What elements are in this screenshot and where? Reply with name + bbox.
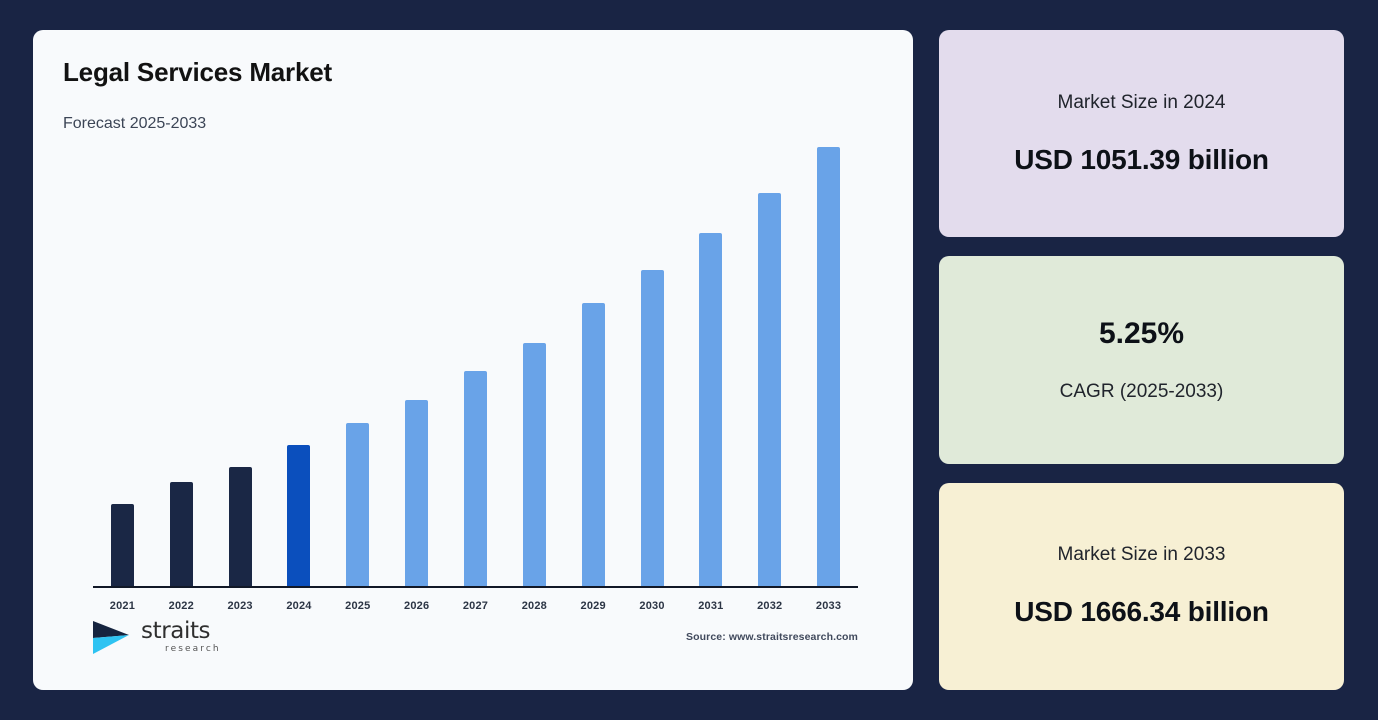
kpi-card-market-size-2024: Market Size in 2024USD 1051.39 billion (939, 30, 1344, 237)
bar-slot-2033[interactable] (799, 147, 858, 586)
bar-2031[interactable] (699, 233, 722, 586)
kpi-label-market-size-2033: Market Size in 2033 (1058, 544, 1226, 566)
bar-slot-2027[interactable] (446, 147, 505, 586)
kpi-label-market-size-2024: Market Size in 2024 (1058, 92, 1226, 114)
bar-2024[interactable] (287, 445, 310, 586)
kpi-label-cagr: CAGR (2025-2033) (1060, 381, 1224, 403)
bar-2029[interactable] (582, 303, 605, 587)
x-tick-2028: 2028 (505, 600, 564, 612)
kpi-card-market-size-2033: Market Size in 2033USD 1666.34 billion (939, 483, 1344, 690)
bar-slot-2025[interactable] (328, 147, 387, 586)
x-tick-2022: 2022 (152, 600, 211, 612)
plot-area: 2021202220232024202520262027202820292030… (63, 147, 883, 690)
bar-2028[interactable] (523, 343, 546, 586)
bar-slot-2031[interactable] (681, 147, 740, 586)
bar-slot-2028[interactable] (505, 147, 564, 586)
source-attribution: Source: www.straitsresearch.com (686, 631, 858, 643)
bar-2021[interactable] (111, 504, 134, 586)
bar-slot-2021[interactable] (93, 147, 152, 586)
x-tick-2026: 2026 (387, 600, 446, 612)
bar-slot-2026[interactable] (387, 147, 446, 586)
bar-2022[interactable] (170, 482, 193, 586)
kpi-panel: Market Size in 2024USD 1051.39 billion5.… (939, 30, 1344, 690)
bar-slot-2029[interactable] (564, 147, 623, 586)
x-axis-ticks: 2021202220232024202520262027202820292030… (93, 600, 858, 612)
bar-2032[interactable] (758, 193, 781, 586)
page-title: Legal Services Market (63, 58, 883, 88)
bar-2033[interactable] (817, 147, 840, 586)
x-tick-2027: 2027 (446, 600, 505, 612)
logo-arrow-icon (91, 617, 133, 657)
x-tick-2023: 2023 (211, 600, 270, 612)
bar-2023[interactable] (229, 467, 252, 586)
kpi-value-cagr: 5.25% (1099, 317, 1184, 351)
x-tick-2025: 2025 (328, 600, 387, 612)
chart-card: Legal Services Market Forecast 2025-2033… (33, 30, 913, 690)
x-tick-2021: 2021 (93, 600, 152, 612)
bar-slot-2032[interactable] (740, 147, 799, 586)
bar-2026[interactable] (405, 400, 428, 586)
straits-research-logo: straits research (91, 617, 221, 657)
infographic-root: Legal Services Market Forecast 2025-2033… (0, 0, 1378, 720)
x-tick-2030: 2030 (623, 600, 682, 612)
bar-2030[interactable] (641, 270, 664, 586)
bar-slot-2030[interactable] (623, 147, 682, 586)
kpi-value-market-size-2024: USD 1051.39 billion (1014, 144, 1269, 176)
x-tick-2032: 2032 (740, 600, 799, 612)
bar-2025[interactable] (346, 423, 369, 587)
x-tick-2031: 2031 (681, 600, 740, 612)
kpi-card-cagr: 5.25%CAGR (2025-2033) (939, 256, 1344, 463)
bar-series (93, 147, 858, 588)
bar-slot-2023[interactable] (211, 147, 270, 586)
chart-subtitle: Forecast 2025-2033 (63, 115, 883, 133)
x-tick-2024: 2024 (270, 600, 329, 612)
logo-name: straits (141, 620, 221, 643)
bar-slot-2024[interactable] (270, 147, 329, 586)
kpi-value-market-size-2033: USD 1666.34 billion (1014, 596, 1269, 628)
bar-2027[interactable] (464, 371, 487, 586)
x-tick-2029: 2029 (564, 600, 623, 612)
bar-chart (93, 147, 858, 588)
logo-subtitle: research (165, 645, 221, 654)
logo-wordmark: straits research (141, 620, 221, 654)
x-tick-2033: 2033 (799, 600, 858, 612)
bar-slot-2022[interactable] (152, 147, 211, 586)
chart-footer: straits research Source: www.straitsrese… (91, 614, 858, 660)
